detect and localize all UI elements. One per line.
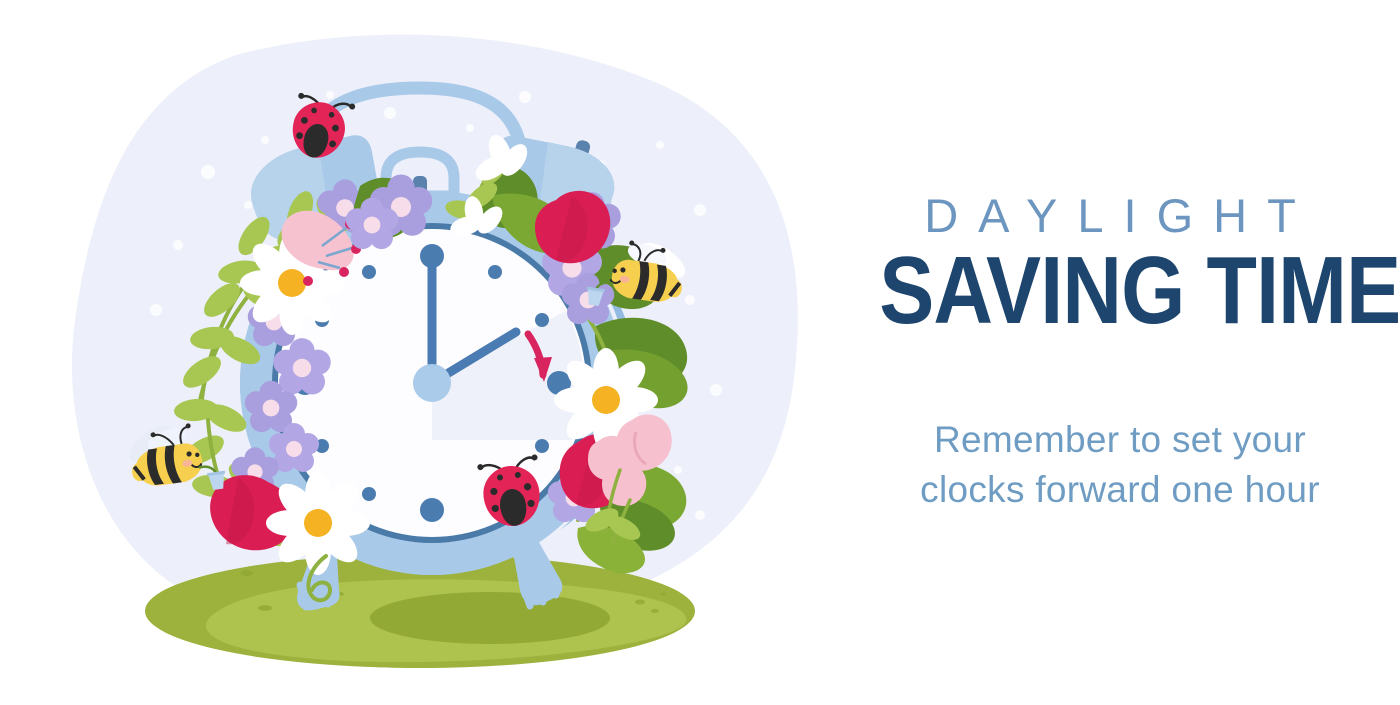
subtitle: Remember to set your clocks forward one … [840, 415, 1400, 516]
subtitle-line-2: clocks forward one hour [840, 465, 1400, 515]
title-kicker: DAYLIGHT [850, 188, 1390, 243]
clock-hub [413, 364, 451, 402]
clock-illustration [0, 0, 840, 700]
daisy-lower-left [266, 471, 370, 575]
subtitle-line-1: Remember to set your [840, 415, 1400, 465]
text-block: DAYLIGHT SAVING TIME Remember to set you… [840, 0, 1400, 700]
illustration-svg [0, 0, 840, 700]
page-title: SAVING TIME [879, 236, 1361, 346]
daylight-saving-banner: DAYLIGHT SAVING TIME Remember to set you… [0, 0, 1400, 700]
